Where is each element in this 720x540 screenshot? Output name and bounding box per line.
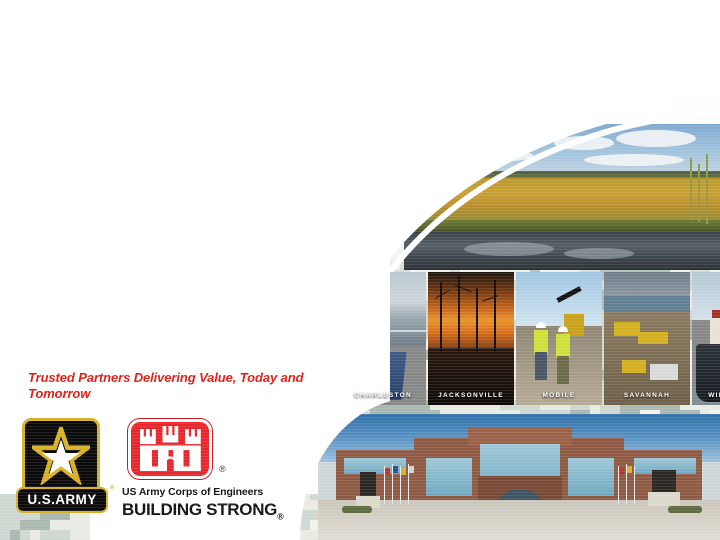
camo-pixel: [240, 420, 250, 430]
camo-pixel: [310, 380, 320, 390]
camo-pixel: [300, 440, 310, 450]
camo-pixel: [180, 340, 190, 350]
camo-pixel: [510, 100, 520, 110]
camo-pixel: [250, 260, 260, 270]
camo-pixel: [10, 520, 20, 530]
camo-pixel: [180, 330, 190, 340]
camo-pixel: [220, 170, 230, 180]
camo-pixel: [380, 230, 390, 240]
camo-pixel: [200, 140, 210, 150]
camo-pixel: [230, 410, 240, 420]
dead-tree: [440, 282, 442, 352]
camo-pixel: [610, 110, 620, 120]
camo-pixel: [210, 120, 220, 130]
camo-pixel: [130, 290, 140, 300]
camo-pixel: [80, 120, 90, 130]
camo-pixel: [70, 280, 80, 290]
camo-pixel: [390, 130, 400, 140]
camo-pixel: [280, 290, 290, 300]
camo-pixel: [310, 240, 320, 250]
camo-pixel: [360, 260, 370, 270]
camo-pixel: [40, 350, 50, 360]
camo-pixel: [120, 260, 130, 270]
camo-pixel: [0, 480, 10, 490]
cloud: [554, 136, 614, 150]
flag: [627, 466, 632, 473]
camo-pixel: [150, 520, 160, 530]
camo-pixel: [50, 260, 60, 270]
camo-pixel: [640, 10, 650, 20]
camo-pixel: [110, 180, 120, 190]
camo-pixel: [210, 140, 220, 150]
camo-pixel: [320, 200, 330, 210]
camo-pixel: [150, 120, 160, 130]
safety-vest: [556, 334, 570, 358]
camo-pixel: [280, 410, 290, 420]
camo-pixel: [660, 110, 670, 120]
camo-pixel: [620, 50, 630, 60]
camo-pixel: [590, 80, 600, 90]
camo-pixel: [0, 460, 10, 470]
camo-pixel: [30, 280, 40, 290]
camo-pixel: [300, 260, 310, 270]
camo-pixel: [630, 100, 640, 110]
camo-pixel: [290, 120, 300, 130]
camo-pixel: [620, 20, 630, 30]
camo-pixel: [10, 300, 20, 310]
camo-pixel: [40, 310, 50, 320]
camo-pixel: [60, 350, 70, 360]
camo-pixel: [70, 250, 80, 260]
camo-pixel: [0, 330, 10, 340]
camo-pixel: [110, 290, 120, 300]
camo-pixel: [270, 310, 280, 320]
camo-pixel: [570, 110, 580, 120]
camo-pixel: [210, 320, 220, 330]
camo-pixel: [320, 270, 330, 280]
camo-pixel: [280, 420, 290, 430]
camo-pixel: [650, 40, 660, 50]
camo-pixel: [130, 300, 140, 310]
camo-pixel: [180, 280, 190, 290]
camo-pixel: [230, 340, 240, 350]
camo-pixel: [180, 160, 190, 170]
camo-pixel: [540, 10, 550, 20]
camo-pixel: [320, 170, 330, 180]
camo-pixel: [340, 190, 350, 200]
camo-pixel: [220, 450, 230, 460]
camo-pixel: [210, 200, 220, 210]
camo-pixel: [360, 140, 370, 150]
camo-pixel: [160, 150, 170, 160]
cloud: [616, 130, 696, 147]
camo-pixel: [160, 290, 170, 300]
camo-pixel: [150, 530, 160, 540]
camo-pixel: [280, 180, 290, 190]
camo-pixel: [100, 190, 110, 200]
camo-pixel: [320, 330, 330, 340]
camo-pixel: [170, 160, 180, 170]
camo-pixel: [510, 10, 520, 20]
camo-pixel: [260, 360, 270, 370]
camo-pixel: [290, 300, 300, 310]
camo-pixel: [230, 520, 240, 530]
camo-pixel: [700, 0, 710, 10]
camo-pixel: [100, 420, 110, 430]
camo-pixel: [320, 280, 330, 290]
camo-pixel: [610, 0, 620, 10]
camo-pixel: [170, 130, 180, 140]
camo-pixel: [710, 70, 720, 80]
camo-pixel: [40, 280, 50, 290]
camo-pixel: [340, 140, 350, 150]
camo-pixel: [700, 30, 710, 40]
photo-sky: [340, 272, 426, 346]
statue-pedestal: [648, 492, 680, 506]
camo-pixel: [210, 340, 220, 350]
camo-pixel: [320, 320, 330, 330]
camo-pixel: [70, 120, 80, 130]
camo-pixel: [640, 30, 650, 40]
camo-pixel: [300, 300, 310, 310]
camo-pixel: [230, 300, 240, 310]
camo-pixel: [260, 330, 270, 340]
worker-legs: [557, 356, 569, 384]
camo-pixel: [340, 120, 350, 130]
camo-pixel: [230, 360, 240, 370]
camo-pixel: [610, 50, 620, 60]
camo-pixel: [290, 360, 300, 370]
camo-pixel: [180, 140, 190, 150]
camo-pixel: [180, 150, 190, 160]
camo-pixel: [170, 210, 180, 220]
camo-pixel: [290, 420, 300, 430]
camo-pixel: [280, 320, 290, 330]
camo-pixel: [110, 420, 120, 430]
camo-pixel: [270, 350, 280, 360]
camo-pixel: [110, 320, 120, 330]
camo-pixel: [220, 130, 230, 140]
camo-pixel: [240, 140, 250, 150]
camo-pixel: [550, 60, 560, 70]
camo-pixel: [50, 340, 60, 350]
camo-pixel: [30, 520, 40, 530]
camo-pixel: [90, 300, 100, 310]
camo-pixel: [250, 130, 260, 140]
camo-pixel: [560, 110, 570, 120]
camo-pixel: [270, 170, 280, 180]
camo-pixel: [590, 20, 600, 30]
camo-pixel: [230, 350, 240, 360]
camo-pixel: [640, 0, 650, 10]
photo-caption: JACKSONVILLE: [428, 392, 514, 399]
camo-pixel: [290, 220, 300, 230]
camo-pixel: [640, 70, 650, 80]
camo-pixel: [330, 220, 340, 230]
cloud: [418, 132, 472, 148]
camo-pixel: [240, 170, 250, 180]
camo-pixel: [220, 140, 230, 150]
camo-pixel: [570, 100, 580, 110]
camo-pixel: [710, 50, 720, 60]
camo-pixel: [240, 470, 250, 480]
camo-pixel: [230, 310, 240, 320]
camo-pixel: [130, 330, 140, 340]
camo-pixel: [10, 310, 20, 320]
camo-pixel: [180, 350, 190, 360]
castle-icon: [131, 423, 209, 477]
camo-pixel: [100, 250, 110, 260]
camo-pixel: [0, 120, 10, 130]
camo-pixel: [90, 320, 100, 330]
camo-pixel: [660, 10, 670, 20]
camo-pixel: [190, 260, 200, 270]
camo-pixel: [240, 320, 250, 330]
camo-pixel: [20, 320, 30, 330]
camo-pixel: [150, 280, 160, 290]
camo-pixel: [370, 200, 380, 210]
camo-pixel: [330, 340, 340, 350]
camo-pixel: [160, 180, 170, 190]
camo-pixel: [120, 280, 130, 290]
camo-pixel: [330, 300, 340, 310]
camo-pixel: [190, 520, 200, 530]
camo-pixel: [190, 350, 200, 360]
camo-pixel: [220, 280, 230, 290]
camo-pixel: [150, 290, 160, 300]
camo-pixel: [390, 170, 400, 180]
camo-pixel: [670, 110, 680, 120]
camo-pixel: [320, 390, 330, 400]
camo-pixel: [330, 190, 340, 200]
camo-pixel: [590, 70, 600, 80]
camo-pixel: [260, 410, 270, 420]
camo-pixel: [630, 40, 640, 50]
camo-pixel: [390, 250, 400, 260]
camo-pixel: [10, 260, 20, 270]
bridge-cable: [350, 330, 426, 332]
camo-pixel: [250, 120, 260, 130]
camo-pixel: [120, 250, 130, 260]
camo-pixel: [390, 160, 400, 170]
camo-pixel: [270, 410, 280, 420]
camo-pixel: [220, 320, 230, 330]
reed: [706, 154, 708, 224]
camo-pixel: [90, 520, 100, 530]
camo-pixel: [690, 70, 700, 80]
camo-pixel: [60, 310, 70, 320]
camo-pixel: [670, 20, 680, 30]
camo-pixel: [110, 430, 120, 440]
camo-pixel: [290, 520, 300, 530]
camo-pixel: [130, 270, 140, 280]
camo-pixel: [660, 50, 670, 60]
camo-pixel: [300, 330, 310, 340]
camo-pixel: [510, 40, 520, 50]
camo-pixel: [0, 40, 10, 50]
camo-pixel: [180, 530, 190, 540]
camo-pixel: [710, 0, 720, 10]
camo-pixel: [660, 60, 670, 70]
camo-pixel: [200, 520, 210, 530]
camo-pixel: [570, 70, 580, 80]
camo-pixel: [380, 220, 390, 230]
camo-pixel: [220, 150, 230, 160]
camo-pixel: [170, 200, 180, 210]
camo-pixel: [120, 360, 130, 370]
camo-pixel: [630, 10, 640, 20]
camo-pixel: [120, 240, 130, 250]
camo-pixel: [280, 150, 290, 160]
camo-pixel: [150, 170, 160, 180]
camo-pixel: [560, 20, 570, 30]
camo-pixel: [120, 180, 130, 190]
camo-pixel: [320, 300, 330, 310]
camo-pixel: [10, 330, 20, 340]
camo-pixel: [170, 360, 180, 370]
camo-pixel: [60, 270, 70, 280]
camo-pixel: [600, 40, 610, 50]
camo-pixel: [50, 270, 60, 280]
camo-pixel: [190, 160, 200, 170]
camo-pixel: [270, 160, 280, 170]
camo-pixel: [260, 290, 270, 300]
camo-pixel: [270, 220, 280, 230]
camo-pixel: [290, 340, 300, 350]
camo-pixel: [150, 200, 160, 210]
camo-pixel: [360, 160, 370, 170]
camo-pixel: [530, 70, 540, 80]
camo-pixel: [280, 460, 290, 470]
camo-pixel: [100, 460, 110, 470]
photo-water: [404, 232, 720, 270]
camo-pixel: [510, 80, 520, 90]
camo-pixel: [350, 140, 360, 150]
camo-pixel: [190, 120, 200, 130]
camo-pixel: [630, 110, 640, 120]
camo-pixel: [590, 60, 600, 70]
camo-pixel: [90, 350, 100, 360]
camo-pixel: [270, 180, 280, 190]
camo-pixel: [290, 450, 300, 460]
camo-pixel: [340, 220, 350, 230]
camo-pixel: [240, 270, 250, 280]
camo-pixel: [40, 520, 50, 530]
camo-pixel: [220, 360, 230, 370]
camo-pixel: [670, 0, 680, 10]
camo-pixel: [190, 190, 200, 200]
camo-pixel: [260, 270, 270, 280]
camo-pixel: [530, 90, 540, 100]
camo-pixel: [170, 170, 180, 180]
camo-pixel: [240, 410, 250, 420]
camo-pixel: [590, 0, 600, 10]
camo-pixel: [120, 220, 130, 230]
camo-pixel: [340, 240, 350, 250]
camo-pixel: [180, 230, 190, 240]
camo-pixel: [140, 270, 150, 280]
camo-pixel: [100, 430, 110, 440]
camo-pixel: [110, 510, 120, 520]
camo-pixel: [120, 170, 130, 180]
camo-pixel: [0, 440, 10, 450]
camo-pixel: [150, 320, 160, 330]
camo-pixel: [160, 200, 170, 210]
camo-pixel: [250, 520, 260, 530]
camo-pixel: [380, 150, 390, 160]
camo-pixel: [120, 330, 130, 340]
camo-pixel: [270, 460, 280, 470]
camo-pixel: [330, 260, 340, 270]
author-district: Jacksonville District: [12, 203, 121, 217]
water-reflection: [464, 242, 554, 256]
camo-pixel: [100, 450, 110, 460]
camo-pixel: [250, 450, 260, 460]
camo-pixel: [200, 230, 210, 240]
camo-pixel: [590, 100, 600, 110]
camo-pixel: [390, 200, 400, 210]
camo-pixel: [0, 150, 10, 160]
camo-pixel: [150, 300, 160, 310]
camo-pixel: [210, 160, 220, 170]
camo-pixel: [250, 250, 260, 260]
camo-pixel: [550, 90, 560, 100]
camo-pixel: [130, 220, 140, 230]
camo-pixel: [170, 290, 180, 300]
camo-pixel: [150, 190, 160, 200]
camo-pixel: [540, 70, 550, 80]
camo-pixel: [520, 60, 530, 70]
camo-pixel: [210, 150, 220, 160]
camo-pixel: [620, 90, 630, 100]
camo-pixel: [550, 70, 560, 80]
camo-pixel: [690, 60, 700, 70]
camo-pixel: [710, 60, 720, 70]
camo-pixel: [690, 100, 700, 110]
camo-pixel: [390, 140, 400, 150]
camo-pixel: [290, 150, 300, 160]
camo-pixel: [320, 370, 330, 380]
camo-pixel: [610, 60, 620, 70]
camo-pixel: [220, 190, 230, 200]
camo-pixel: [570, 90, 580, 100]
camo-pixel: [100, 340, 110, 350]
camo-pixel: [170, 520, 180, 530]
camo-pixel: [60, 360, 70, 370]
camo-pixel: [270, 270, 280, 280]
camo-pixel: [20, 350, 30, 360]
camo-pixel: [70, 360, 80, 370]
camo-pixel: [130, 280, 140, 290]
camo-pixel: [530, 80, 540, 90]
camo-pixel: [20, 330, 30, 340]
camo-pixel: [0, 90, 10, 100]
camo-pixel: [640, 110, 650, 120]
camo-pixel: [300, 200, 310, 210]
camo-pixel: [0, 50, 10, 60]
camo-pixel: [90, 130, 100, 140]
camo-pixel: [300, 320, 310, 330]
camo-pixel: [700, 110, 710, 120]
camo-pixel: [260, 240, 270, 250]
camo-pixel: [110, 190, 120, 200]
camo-pixel: [310, 290, 320, 300]
camo-pixel: [250, 300, 260, 310]
camo-pixel: [110, 440, 120, 450]
camo-pixel: [370, 240, 380, 250]
camo-pixel: [110, 520, 120, 530]
camo-pixel: [230, 220, 240, 230]
